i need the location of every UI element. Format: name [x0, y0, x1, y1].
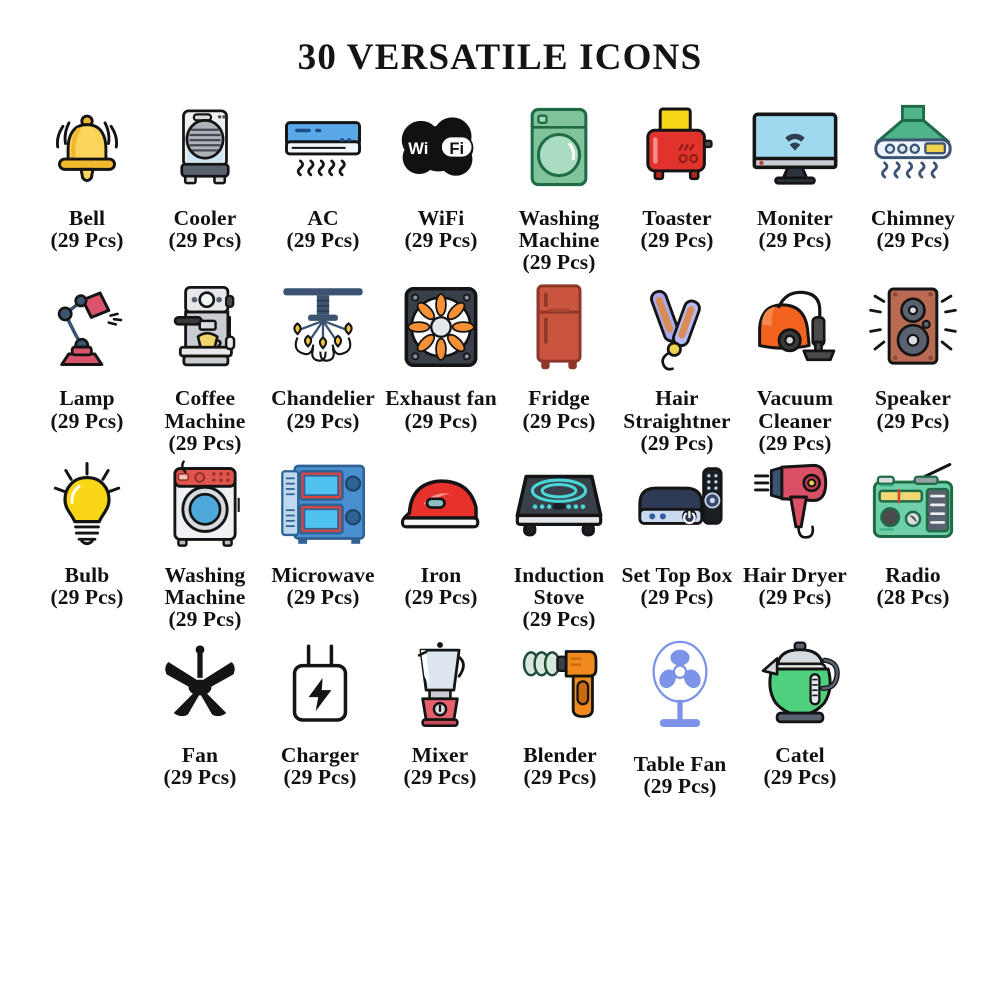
icon-label: Table Fan (29 Pcs) — [618, 753, 742, 797]
icon-title: Microwave — [271, 563, 374, 587]
icon-cell-ac[interactable]: AC (29 Pcs) — [264, 97, 382, 251]
icon-cell-fridge[interactable]: Fridge (29 Pcs) — [500, 277, 618, 431]
icon-count: (29 Pcs) — [379, 229, 503, 251]
toaster-icon — [627, 97, 727, 197]
icon-label: Bell (29 Pcs) — [25, 207, 149, 251]
icon-count: (29 Pcs) — [738, 766, 862, 788]
icon-cell-washing-machine[interactable]: Washing Machine (29 Pcs) — [500, 97, 618, 273]
icon-title: Washing Machine — [519, 206, 600, 252]
set-top-box-icon — [627, 454, 727, 554]
icon-label: Catel (29 Pcs) — [738, 744, 862, 788]
icon-cell-radio[interactable]: Radio (28 Pcs) — [854, 454, 972, 608]
icon-cell-hair-straightner[interactable]: Hair Straightner (29 Pcs) — [618, 277, 736, 453]
icon-count: (29 Pcs) — [733, 586, 857, 608]
icon-title: Charger — [281, 743, 359, 767]
kettle-icon — [750, 634, 850, 734]
icon-cell-toaster[interactable]: Toaster (29 Pcs) — [618, 97, 736, 251]
icon-label: Washing Machine (29 Pcs) — [497, 207, 621, 273]
icon-row: Lamp (29 Pcs) — [6, 277, 994, 453]
icon-title: Cooler — [174, 206, 237, 230]
icon-cell-vacuum-cleaner[interactable]: Vacuum Cleaner (29 Pcs) — [736, 277, 854, 453]
icon-cell-exhaust-fan[interactable]: Exhaust fan (29 Pcs) — [382, 277, 500, 431]
icon-row: Bulb (29 Pcs) — [6, 454, 994, 630]
hair-straightner-icon — [627, 277, 727, 377]
icon-count: (29 Pcs) — [138, 766, 262, 788]
icon-cell-table-fan[interactable]: Table Fan (29 Pcs) — [620, 634, 740, 797]
icon-label: Speaker (29 Pcs) — [851, 387, 975, 431]
icon-label: Fridge (29 Pcs) — [497, 387, 621, 431]
page-title: 30 VERSATILE ICONS — [0, 0, 1000, 79]
icon-title: Set Top Box — [621, 563, 732, 587]
icon-label: Fan (29 Pcs) — [138, 744, 262, 788]
icon-title: Catel — [775, 743, 824, 767]
icon-count: (29 Pcs) — [851, 229, 975, 251]
icon-cell-charger[interactable]: Charger (29 Pcs) — [260, 634, 380, 788]
icon-title: Bulb — [65, 563, 110, 587]
icon-cell-speaker[interactable]: Speaker (29 Pcs) — [854, 277, 972, 431]
icon-label: Washing Machine (29 Pcs) — [143, 564, 267, 630]
icon-count: (29 Pcs) — [615, 432, 739, 454]
exhaust-fan-icon — [391, 277, 491, 377]
washing-machine-front-icon — [155, 454, 255, 554]
icon-title: Toaster — [642, 206, 711, 230]
bulb-icon — [37, 454, 137, 554]
icon-count: (29 Pcs) — [143, 432, 267, 454]
icon-title: Chandelier — [271, 386, 375, 410]
icon-label: AC (29 Pcs) — [261, 207, 385, 251]
icon-label: Iron (29 Pcs) — [379, 564, 503, 608]
icon-count: (29 Pcs) — [143, 229, 267, 251]
icon-title: Radio — [885, 563, 940, 587]
icon-title: Induction Stove — [514, 563, 605, 609]
icon-cell-blender[interactable]: Blender (29 Pcs) — [500, 634, 620, 788]
icon-count: (29 Pcs) — [497, 251, 621, 273]
chandelier-icon — [273, 277, 373, 377]
icon-count: (29 Pcs) — [618, 775, 742, 797]
vacuum-cleaner-icon — [745, 277, 845, 377]
icon-label: Coffee Machine (29 Pcs) — [143, 387, 267, 453]
icon-cell-hair-dryer[interactable]: Hair Dryer (29 Pcs) — [736, 454, 854, 608]
icon-count: (29 Pcs) — [615, 229, 739, 251]
icon-title: AC — [307, 206, 338, 230]
icon-label: Induction Stove (29 Pcs) — [497, 564, 621, 630]
icon-title: Chimney — [871, 206, 955, 230]
icon-count: (29 Pcs) — [497, 410, 621, 432]
icon-count: (29 Pcs) — [497, 608, 621, 630]
icon-label: Chandelier (29 Pcs) — [261, 387, 385, 431]
icon-count: (29 Pcs) — [379, 410, 503, 432]
icon-title: Table Fan — [634, 752, 727, 776]
lamp-icon — [37, 277, 137, 377]
monitor-icon — [745, 97, 845, 197]
icon-cell-lamp[interactable]: Lamp (29 Pcs) — [28, 277, 146, 431]
bell-icon — [37, 97, 137, 197]
chimney-icon — [863, 97, 963, 197]
icon-count: (29 Pcs) — [258, 766, 382, 788]
icon-label: Radio (28 Pcs) — [851, 564, 975, 608]
icon-cell-iron[interactable]: Iron (29 Pcs) — [382, 454, 500, 608]
icon-title: Blender — [523, 743, 597, 767]
icon-count: (29 Pcs) — [25, 229, 149, 251]
icon-cell-chimney[interactable]: Chimney (29 Pcs) — [854, 97, 972, 251]
icon-label: Vacuum Cleaner (29 Pcs) — [733, 387, 857, 453]
ac-icon — [273, 97, 373, 197]
icon-count: (28 Pcs) — [851, 586, 975, 608]
icon-label: WiFi (29 Pcs) — [379, 207, 503, 251]
icon-title: Fan — [182, 743, 218, 767]
icon-count: (29 Pcs) — [378, 766, 502, 788]
iron-icon — [391, 454, 491, 554]
icon-count: (29 Pcs) — [261, 410, 385, 432]
icon-label: Charger (29 Pcs) — [258, 744, 382, 788]
icon-label: Mixer (29 Pcs) — [378, 744, 502, 788]
coffee-machine-icon — [155, 277, 255, 377]
icon-label: Toaster (29 Pcs) — [615, 207, 739, 251]
svg-text:Wi: Wi — [408, 139, 428, 158]
icon-row: Fan (29 Pcs) Charger (29 Pcs) — [6, 634, 994, 797]
icon-cell-induction-stove[interactable]: Induction Stove (29 Pcs) — [500, 454, 618, 630]
speaker-icon — [863, 277, 963, 377]
icon-cell-monitor[interactable]: Moniter (29 Pcs) — [736, 97, 854, 251]
icon-title: Moniter — [757, 206, 833, 230]
icon-title: Vacuum Cleaner — [757, 386, 833, 432]
icon-label: Cooler (29 Pcs) — [143, 207, 267, 251]
icon-count: (29 Pcs) — [143, 608, 267, 630]
icon-count: (29 Pcs) — [498, 766, 622, 788]
icon-cell-mixer[interactable]: Mixer (29 Pcs) — [380, 634, 500, 788]
icon-cell-kettle[interactable]: Catel (29 Pcs) — [740, 634, 860, 788]
icon-label: Microwave (29 Pcs) — [261, 564, 385, 608]
icon-cell-bell[interactable]: Bell (29 Pcs) — [28, 97, 146, 251]
icon-label: Bulb (29 Pcs) — [25, 564, 149, 608]
icon-label: Hair Dryer (29 Pcs) — [733, 564, 857, 608]
icon-title: Hair Straightner — [623, 386, 730, 432]
cooler-icon — [155, 97, 255, 197]
icon-grid: Bell (29 Pcs) — [0, 97, 1000, 798]
icon-title: Bell — [69, 206, 105, 230]
mixer-icon — [390, 634, 490, 734]
icon-title: Exhaust fan — [385, 386, 497, 410]
icon-cell-set-top-box[interactable]: Set Top Box (29 Pcs) — [618, 454, 736, 608]
icon-label: Moniter (29 Pcs) — [733, 207, 857, 251]
washing-machine-icon — [509, 97, 609, 197]
radio-icon — [863, 454, 963, 554]
hair-dryer-icon — [745, 454, 845, 554]
induction-stove-icon — [509, 454, 609, 554]
fridge-icon — [509, 277, 609, 377]
icon-title: Speaker — [875, 386, 951, 410]
icon-title: Washing Machine — [165, 563, 246, 609]
microwave-icon — [273, 454, 373, 554]
icon-title: Fridge — [528, 386, 590, 410]
icon-count: (29 Pcs) — [261, 586, 385, 608]
ceiling-fan-icon — [150, 634, 250, 734]
icon-cell-coffee-machine[interactable]: Coffee Machine (29 Pcs) — [146, 277, 264, 453]
wifi-icon: Wi Fi — [391, 97, 491, 197]
icon-cell-chandelier[interactable]: Chandelier (29 Pcs) — [264, 277, 382, 431]
icon-title: Mixer — [412, 743, 469, 767]
icon-row: Bell (29 Pcs) — [6, 97, 994, 273]
icon-cell-cooler[interactable]: Cooler (29 Pcs) — [146, 97, 264, 251]
icon-count: (29 Pcs) — [379, 586, 503, 608]
icon-count: (29 Pcs) — [851, 410, 975, 432]
icon-title: Iron — [421, 563, 462, 587]
icon-count: (29 Pcs) — [733, 229, 857, 251]
icon-cell-bulb[interactable]: Bulb (29 Pcs) — [28, 454, 146, 608]
icon-title: Lamp — [59, 386, 114, 410]
icon-cell-wifi[interactable]: Wi Fi WiFi (29 Pcs) — [382, 97, 500, 251]
icon-count: (29 Pcs) — [25, 410, 149, 432]
svg-text:Fi: Fi — [449, 139, 464, 158]
icon-label: Lamp (29 Pcs) — [25, 387, 149, 431]
icon-count: (29 Pcs) — [25, 586, 149, 608]
icon-label: Set Top Box (29 Pcs) — [615, 564, 739, 608]
icon-count: (29 Pcs) — [615, 586, 739, 608]
icon-cell-microwave[interactable]: Microwave (29 Pcs) — [264, 454, 382, 608]
icon-label: Exhaust fan (29 Pcs) — [379, 387, 503, 431]
icon-cell-washing-machine-front[interactable]: Washing Machine (29 Pcs) — [146, 454, 264, 630]
icon-count: (29 Pcs) — [733, 432, 857, 454]
icon-count: (29 Pcs) — [261, 229, 385, 251]
icon-title: Coffee Machine — [165, 386, 246, 432]
blender-icon — [510, 634, 610, 734]
icon-label: Hair Straightner (29 Pcs) — [615, 387, 739, 453]
table-fan-icon — [630, 634, 730, 734]
icon-title: WiFi — [418, 206, 465, 230]
icon-cell-ceiling-fan[interactable]: Fan (29 Pcs) — [140, 634, 260, 788]
icon-title: Hair Dryer — [743, 563, 847, 587]
icon-label: Chimney (29 Pcs) — [851, 207, 975, 251]
icon-label: Blender (29 Pcs) — [498, 744, 622, 788]
charger-icon — [270, 634, 370, 734]
